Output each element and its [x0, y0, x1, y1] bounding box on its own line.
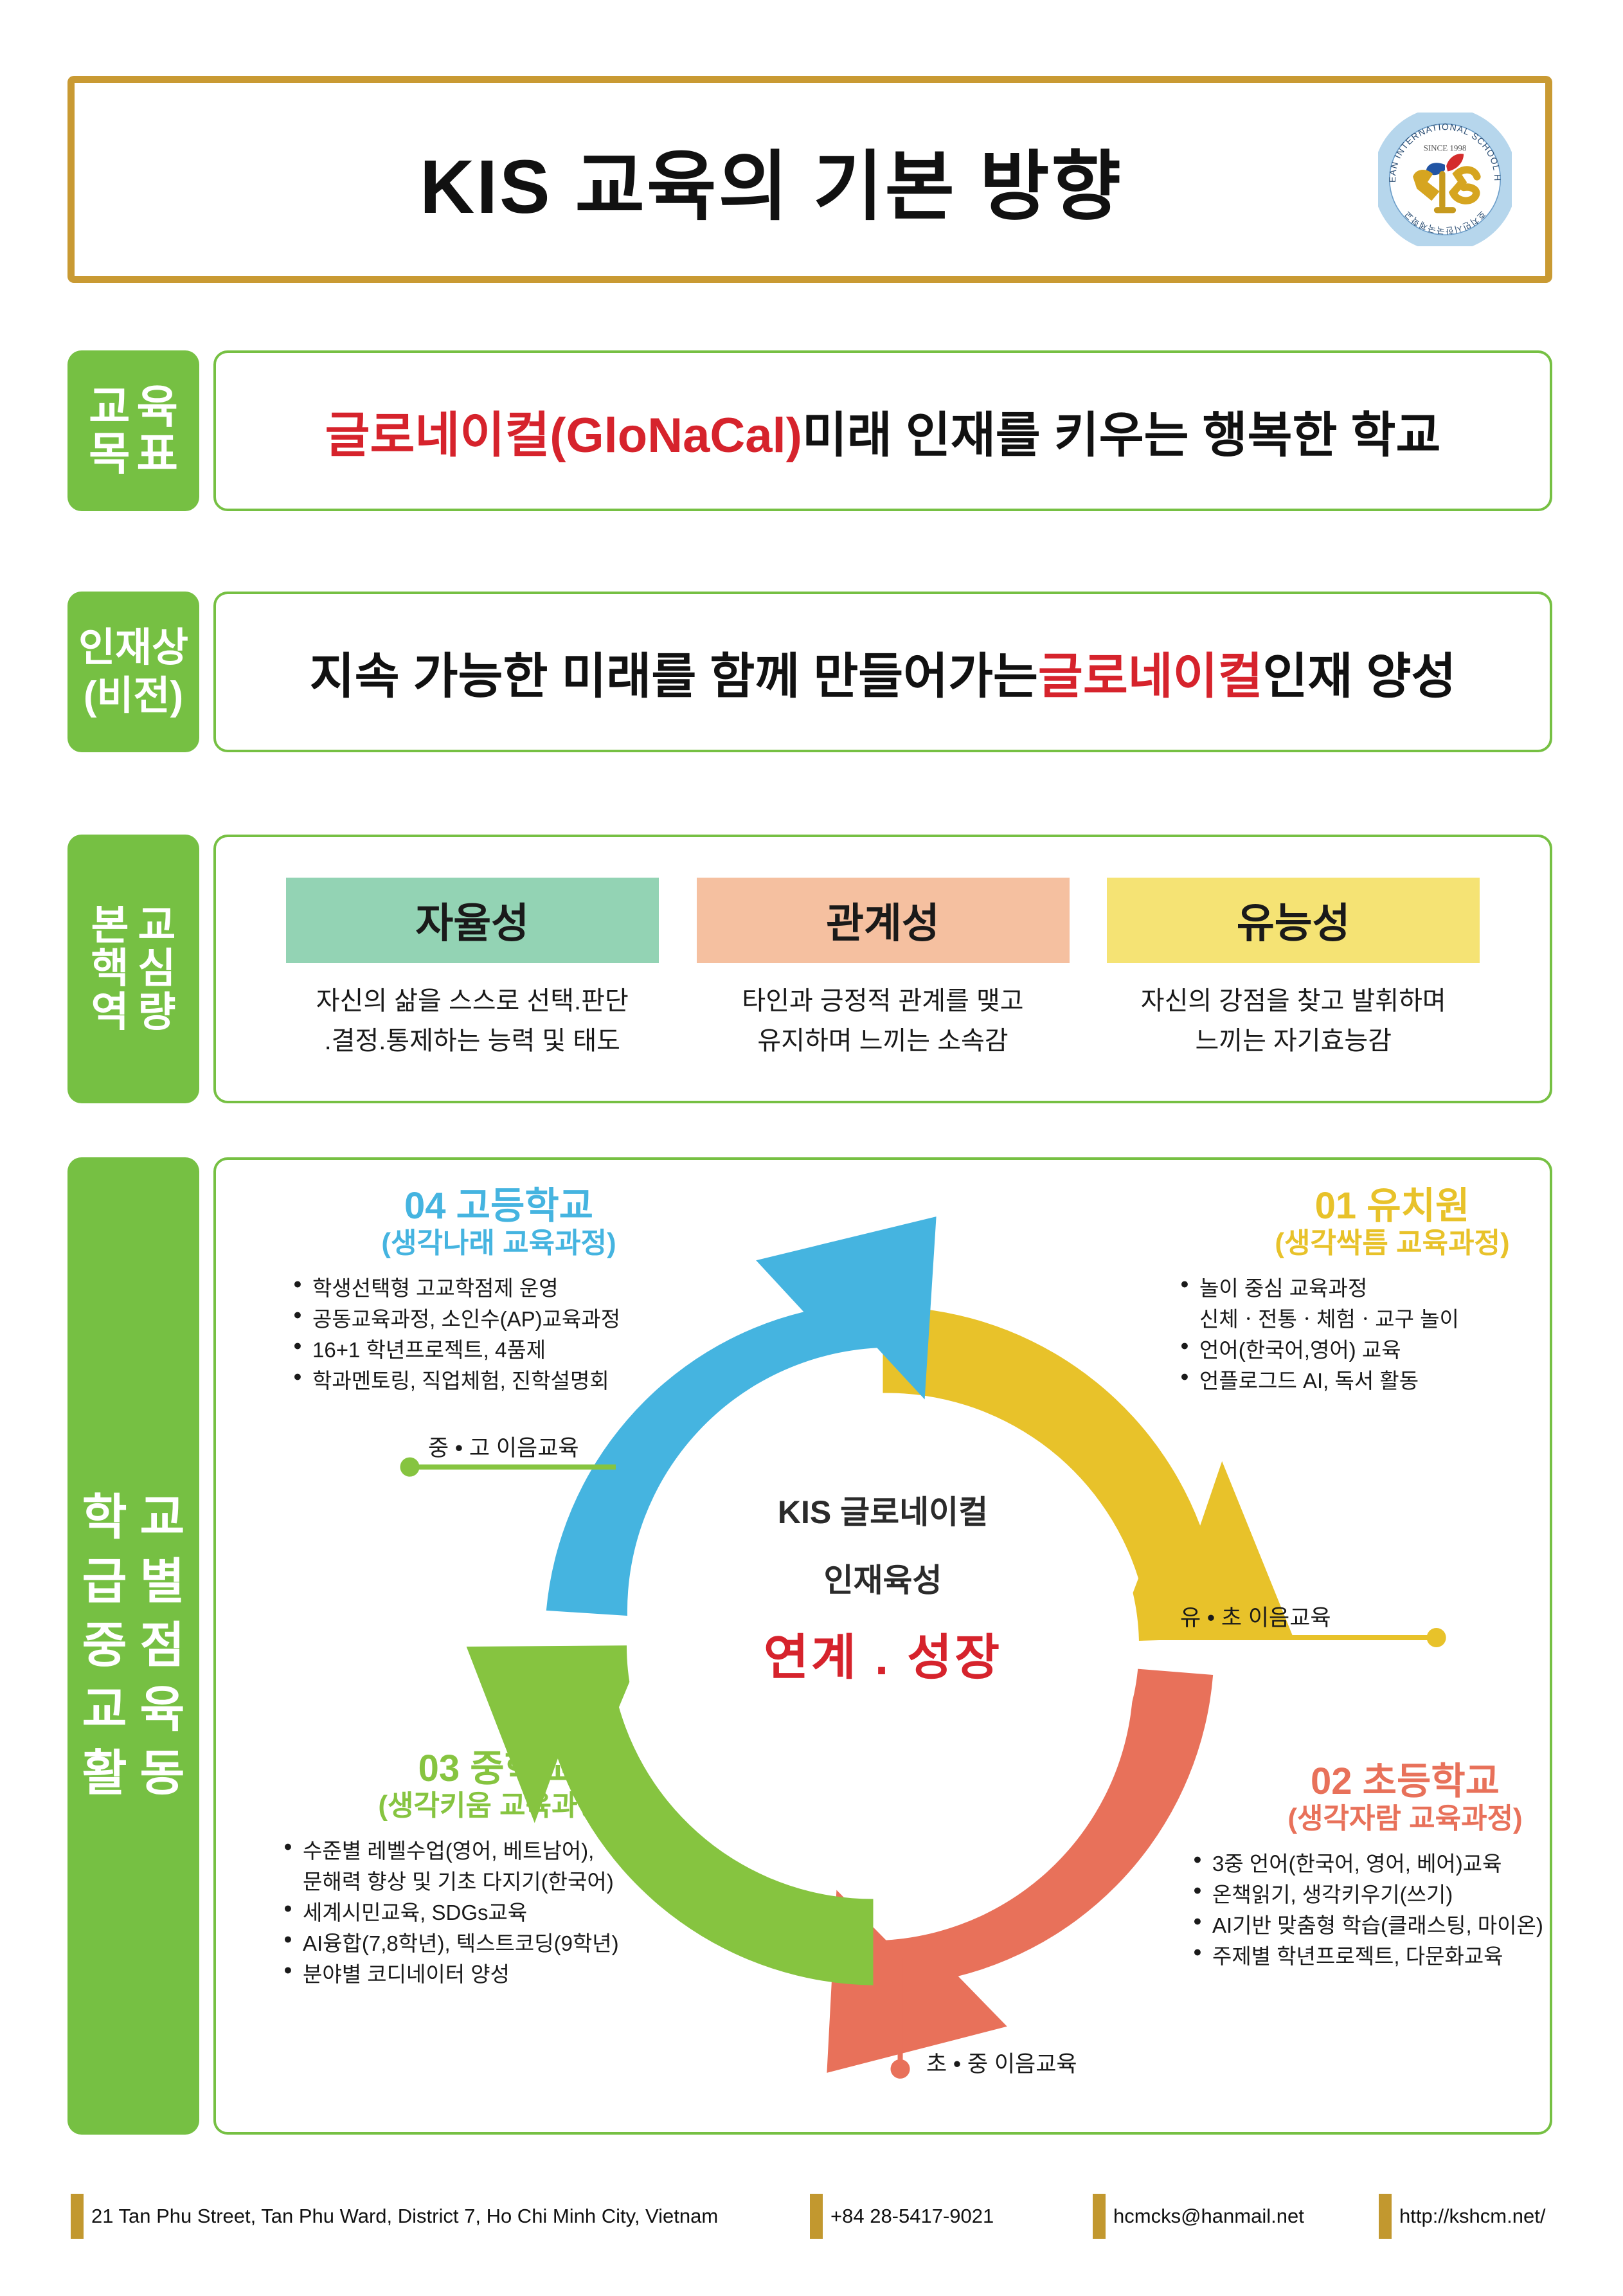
stage-number: 01: [1315, 1185, 1357, 1227]
footer-bar-icon: [1379, 2194, 1392, 2239]
label-char: 교: [140, 1493, 185, 1543]
label-char: 핵: [91, 948, 129, 990]
stage-name: 유치원: [1367, 1185, 1469, 1227]
row-grade-activities: 학 교 급 별 중 점 교 육 활 동: [67, 1157, 1552, 2135]
label-char: 량: [138, 991, 176, 1033]
stage-name: 초등학교: [1363, 1760, 1500, 1802]
stage-elementary-school: 02 초등학교 (생각자람 교육과정) 3중 언어(한국어, 영어, 베어)교육…: [1193, 1761, 1617, 1972]
competency-name: 관계성: [697, 878, 1070, 963]
row-label-core-competency: 본 교 핵 심 역 량: [67, 835, 199, 1103]
list-item: 학생선택형 고교학점제 운영: [293, 1273, 704, 1304]
page-title: KIS 교육의 기본 방향: [75, 83, 1545, 276]
row-vision: 인재상 (비전) 지속 가능한 미래를 함께 만들어가는 글로네이컬 인재 양성: [67, 592, 1552, 752]
list-item: 주제별 학년프로젝트, 다문화교육: [1193, 1941, 1617, 1972]
stage-number: 02: [1311, 1760, 1352, 1802]
svg-text:SINCE 1998: SINCE 1998: [1424, 143, 1467, 152]
connector-label-kinder-elementary: 유 • 초 이음교육: [1180, 1600, 1331, 1632]
list-item: 놀이 중심 교육과정 신체ㆍ전통ㆍ체험ㆍ교구 놀이: [1180, 1273, 1604, 1335]
footer-phone: +84 28-5417-9021: [810, 2194, 994, 2239]
stage-middle-school: 03 중학교 (생각키움 교육과정) 수준별 레벨수업(영어, 베트남어), 문…: [283, 1748, 708, 1989]
footer-website[interactable]: http://kshcm.net/: [1379, 2194, 1545, 2239]
row-label-grade-activities: 학 교 급 별 중 점 교 육 활 동: [67, 1157, 199, 2135]
list-item: 언어(한국어,영어) 교육: [1180, 1335, 1604, 1366]
vision-text-after: 인재 양성: [1263, 637, 1457, 707]
competency-desc-line: 자신의 삶을 스스로 선택.판단: [280, 981, 665, 1021]
list-item: 학과멘토링, 직업체험, 진학설명회: [293, 1366, 704, 1397]
stage-number: 03: [418, 1748, 460, 1789]
footer-bar-icon: [1093, 2194, 1106, 2239]
label-char: 교: [82, 1685, 127, 1735]
row-education-goal: 교 육 목 표 글로네이컬(GloNaCal) 미래 인재를 키우는 행복한 학…: [67, 350, 1552, 511]
stage-subtitle: (생각키움 교육과정): [283, 1790, 708, 1821]
label-char: 표: [137, 431, 178, 477]
education-goal-box: 글로네이컬(GloNaCal) 미래 인재를 키우는 행복한 학교: [213, 350, 1552, 511]
footer-email[interactable]: hcmcks@hanmail.net: [1093, 2194, 1304, 2239]
core-competency-box: 자율성 자신의 삶을 스스로 선택.판단 .결정.통제하는 능력 및 태도 관계…: [213, 835, 1552, 1103]
vision-text-before: 지속 가능한 미래를 함께 만들어가는: [310, 637, 1038, 707]
stage-bullet-list: 수준별 레벨수업(영어, 베트남어), 문해력 향상 및 기초 다지기(한국어)…: [283, 1836, 708, 1989]
center-line-1: KIS 글로네이컬: [658, 1487, 1108, 1533]
label-char: 교: [138, 905, 176, 946]
list-item: 공동교육과정, 소인수(AP)교육과정: [293, 1304, 704, 1335]
stage-subtitle: (생각싹틈 교육과정): [1180, 1227, 1604, 1259]
label-char: 심: [138, 948, 176, 990]
label-char: 활: [82, 1749, 127, 1799]
infographic-page: KIS 교육의 기본 방향 KOREAN INTERNATIONAL SCHOO…: [0, 0, 1623, 2296]
competency-desc-line: 유지하며 느끼는 소속감: [690, 1021, 1076, 1061]
connector-label-elementary-middle: 초 • 중 이음교육: [926, 2046, 1077, 2079]
cycle-center-text: KIS 글로네이컬 인재육성 연계 . 성장: [658, 1487, 1108, 1688]
list-item: 수준별 레벨수업(영어, 베트남어), 문해력 향상 및 기초 다지기(한국어): [283, 1836, 708, 1897]
label-char: 목: [89, 431, 130, 477]
footer-bar-icon: [71, 2194, 84, 2239]
center-line-3: 연계 . 성장: [658, 1618, 1108, 1688]
label-char: 중: [82, 1621, 127, 1671]
label-line: (비전): [84, 676, 183, 716]
school-logo-icon: KOREAN INTERNATIONAL SCHOOL HCMC 호치민시한국국…: [1378, 113, 1512, 246]
cycle-diagram: 04 고등학교 (생각나래 교육과정) 학생선택형 고교학점제 운영 공동교육과…: [216, 1160, 1550, 2132]
competency-desc-line: 느끼는 자기효능감: [1100, 1021, 1486, 1061]
stage-name: 중학교: [470, 1748, 573, 1789]
connector-label-middle-high: 중 • 고 이음교육: [428, 1430, 579, 1463]
list-item: AI융합(7,8학년), 텍스트코딩(9학년): [283, 1928, 708, 1959]
competency-name: 유능성: [1107, 878, 1480, 963]
stage-bullet-list: 놀이 중심 교육과정 신체ㆍ전통ㆍ체험ㆍ교구 놀이 언어(한국어,영어) 교육 …: [1180, 1273, 1604, 1396]
stage-number: 04: [404, 1185, 446, 1227]
footer-address: 21 Tan Phu Street, Tan Phu Ward, Distric…: [71, 2194, 718, 2239]
stage-kindergarten: 01 유치원 (생각싹틈 교육과정) 놀이 중심 교육과정 신체ㆍ전통ㆍ체험ㆍ교…: [1180, 1186, 1604, 1397]
label-char: 별: [140, 1557, 185, 1607]
row-core-competency: 본 교 핵 심 역 량 자율성 자신의 삶을 스스로 선택.판단 .결정.통제하…: [67, 835, 1552, 1103]
label-char: 학: [82, 1493, 127, 1543]
footer-bar-icon: [810, 2194, 823, 2239]
label-char: 점: [140, 1621, 185, 1671]
goal-highlight: 글로네이컬(GloNaCal): [325, 395, 802, 466]
label-char: 역: [91, 991, 129, 1033]
label-char: 동: [140, 1749, 185, 1799]
stage-name: 고등학교: [456, 1185, 593, 1227]
list-item: 온책읽기, 생각키우기(쓰기): [1193, 1879, 1617, 1910]
list-item: 분야별 코디네이터 양성: [283, 1959, 708, 1990]
competency-name: 자율성: [286, 878, 659, 963]
label-char: 육: [140, 1685, 185, 1735]
label-char: 육: [137, 384, 178, 430]
list-item: AI기반 맞춤형 학습(클래스팅, 마이온): [1193, 1910, 1617, 1941]
footer: 21 Tan Phu Street, Tan Phu Ward, Distric…: [71, 2194, 1562, 2239]
list-item: 16+1 학년프로젝트, 4품제: [293, 1335, 704, 1366]
label-char: 교: [89, 384, 130, 430]
competency-card: 자율성 자신의 삶을 스스로 선택.판단 .결정.통제하는 능력 및 태도: [280, 878, 665, 1061]
competency-desc-line: 타인과 긍정적 관계를 맺고: [690, 981, 1076, 1021]
list-item: 언플로그드 AI, 독서 활동: [1180, 1366, 1604, 1397]
center-line-2: 인재육성: [658, 1555, 1108, 1601]
vision-highlight: 글로네이컬: [1038, 637, 1263, 707]
stage-bullet-list: 3중 언어(한국어, 영어, 베어)교육 온책읽기, 생각키우기(쓰기) AI기…: [1193, 1849, 1617, 1971]
list-item: 세계시민교육, SDGs교육: [283, 1897, 708, 1928]
grade-activities-box: 04 고등학교 (생각나래 교육과정) 학생선택형 고교학점제 운영 공동교육과…: [213, 1157, 1552, 2135]
title-banner: KIS 교육의 기본 방향 KOREAN INTERNATIONAL SCHOO…: [67, 76, 1552, 283]
competency-card: 유능성 자신의 강점을 찾고 발휘하며 느끼는 자기효능감: [1100, 878, 1486, 1061]
stage-subtitle: (생각자람 교육과정): [1193, 1803, 1617, 1834]
label-char: 본: [91, 905, 129, 946]
row-label-vision: 인재상 (비전): [67, 592, 199, 752]
label-char: 급: [82, 1557, 127, 1607]
list-item: 3중 언어(한국어, 영어, 베어)교육: [1193, 1849, 1617, 1879]
stage-subtitle: (생각나래 교육과정): [293, 1227, 704, 1259]
competency-desc-line: 자신의 강점을 찾고 발휘하며: [1100, 981, 1486, 1021]
goal-text: 미래 인재를 키우는 행복한 학교: [802, 395, 1440, 466]
vision-box: 지속 가능한 미래를 함께 만들어가는 글로네이컬 인재 양성: [213, 592, 1552, 752]
stage-bullet-list: 학생선택형 고교학점제 운영 공동교육과정, 소인수(AP)교육과정 16+1 …: [293, 1273, 704, 1396]
row-label-education-goal: 교 육 목 표: [67, 350, 199, 511]
label-line: 인재상: [78, 628, 188, 668]
competency-card: 관계성 타인과 긍정적 관계를 맺고 유지하며 느끼는 소속감: [690, 878, 1076, 1061]
competency-desc-line: .결정.통제하는 능력 및 태도: [280, 1021, 665, 1061]
stage-high-school: 04 고등학교 (생각나래 교육과정) 학생선택형 고교학점제 운영 공동교육과…: [293, 1186, 704, 1397]
